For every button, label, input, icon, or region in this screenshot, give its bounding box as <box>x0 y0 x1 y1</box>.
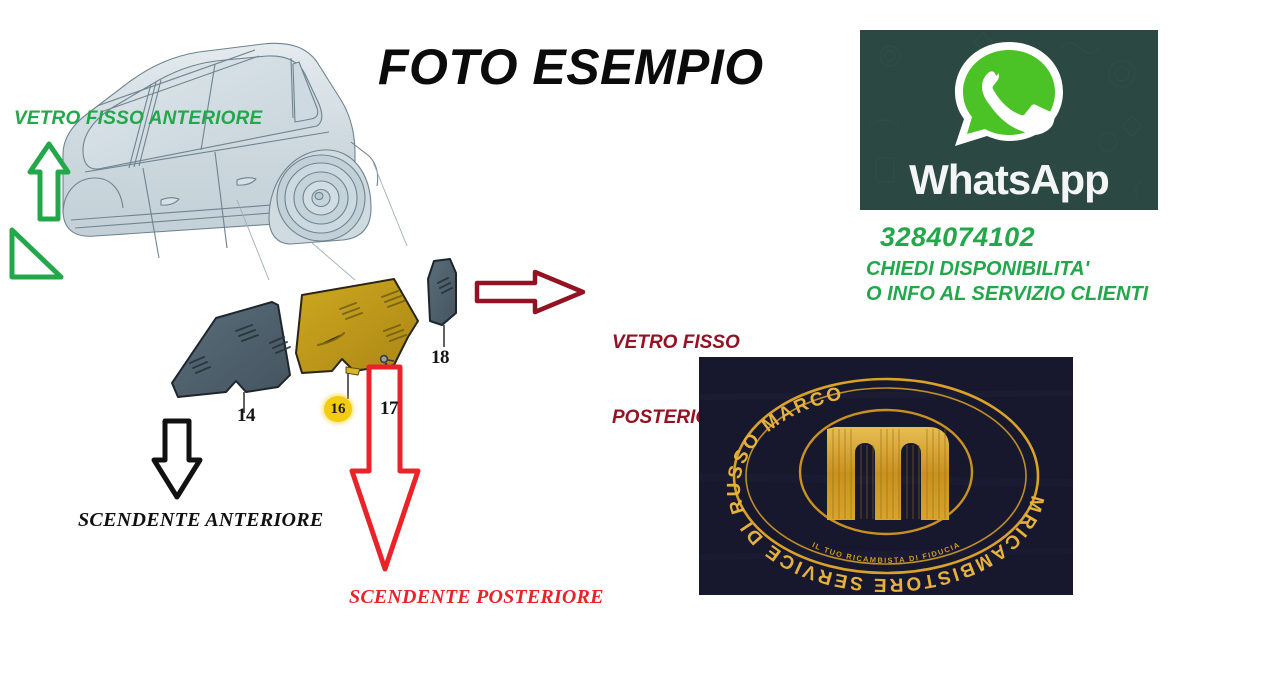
contact-line-1: CHIEDI DISPONIBILITA' <box>866 257 1226 282</box>
label-vfp-line1: VETRO FISSO <box>612 330 740 355</box>
label-scendente-anteriore: SCENDENTE ANTERIORE <box>78 509 324 532</box>
page-title: FOTO ESEMPIO <box>378 38 764 96</box>
shop-logo-photo: MRICAMBISTORE SERVICE DI RUSSO MARCO <box>699 357 1073 595</box>
label-scendente-posteriore: SCENDENTE POSTERIORE <box>349 586 604 609</box>
green-triangle <box>12 230 61 277</box>
whatsapp-wordmark: WhatsApp <box>860 156 1158 204</box>
phone-number[interactable]: 3284074102 <box>880 222 1226 253</box>
part-number-18: 18 <box>431 347 449 369</box>
contact-block: 3284074102 CHIEDI DISPONIBILITA' O INFO … <box>866 222 1226 307</box>
poster-canvas: 14 16 17 18 17 <box>0 0 1264 678</box>
whatsapp-banner: WhatsApp <box>860 30 1158 210</box>
part-number-17-overlay: 17 <box>380 398 398 420</box>
contact-line-2: O INFO AL SERVIZIO CLIENTI <box>866 282 1226 307</box>
dark-red-right-arrow <box>477 272 583 312</box>
part-number-14: 14 <box>237 405 255 427</box>
part-number-16-badge: 16 <box>324 396 352 422</box>
label-vetro-fisso-anteriore: VETRO FISSO ANTERIORE <box>14 108 262 130</box>
whatsapp-icon <box>949 38 1069 150</box>
shop-logo-monogram <box>827 427 949 520</box>
